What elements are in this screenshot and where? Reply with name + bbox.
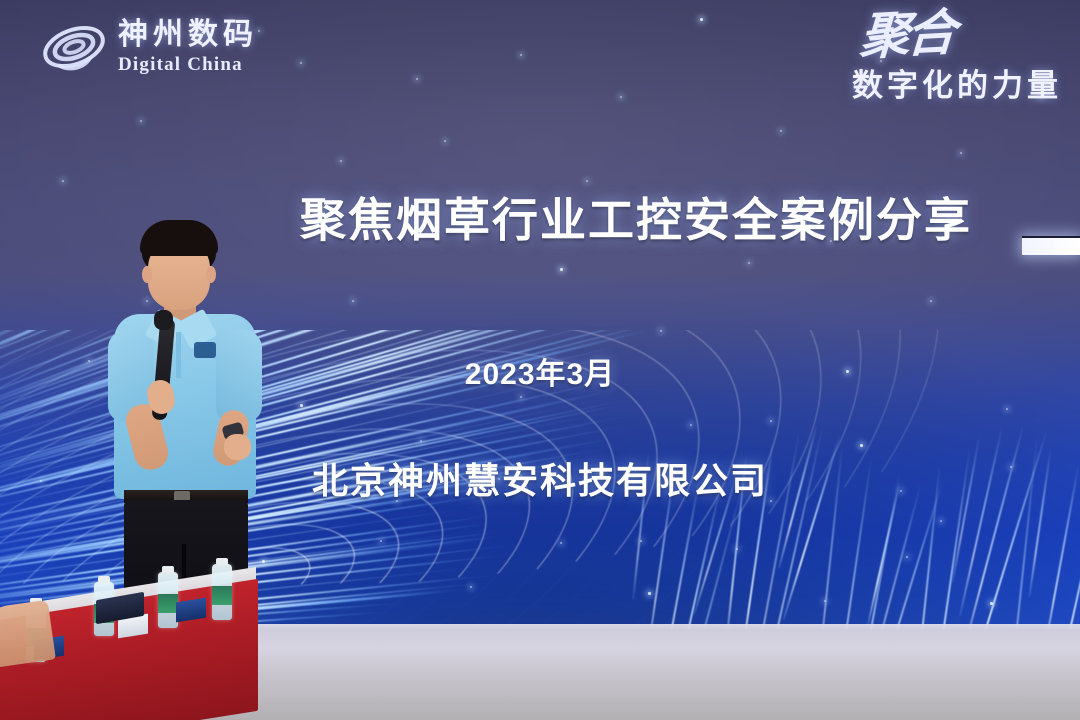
brand-logo: 神州数码 Digital China — [40, 14, 258, 80]
audience-member — [0, 600, 56, 669]
bottle-label — [158, 594, 178, 613]
speaker-hand-holding-clicker — [224, 434, 251, 460]
speaker-figure — [96, 222, 274, 612]
brand-name-cn: 神州数码 — [118, 20, 258, 50]
slide-title: 聚焦烟草行业工控安全案例分享 — [300, 184, 1012, 250]
stage-light-bar — [1022, 236, 1080, 255]
calligraphy-text: 聚合 — [851, 9, 954, 60]
speaker-right-sleeve — [216, 330, 262, 422]
event-calligraphy-mark: 聚合 数字化的力量 — [852, 12, 1062, 105]
conference-stage-photo: 神州数码 Digital China 聚合 数字化的力量 聚焦烟草行业工控安全案… — [0, 0, 1080, 720]
bottle-cap — [98, 576, 110, 583]
digital-china-spiral-icon — [40, 14, 108, 80]
microphone-head — [154, 310, 173, 330]
bottle-cap — [162, 566, 174, 573]
brand-text: 神州数码 Digital China — [118, 20, 258, 74]
bottle-label — [212, 586, 232, 605]
calligraphy-subtitle: 数字化的力量 — [852, 60, 1062, 105]
company-badge-icon — [194, 342, 216, 358]
speaker-ear-left — [142, 266, 152, 283]
speaker-ear-right — [206, 266, 216, 283]
brand-name-en: Digital China — [118, 55, 258, 74]
bottle-cap — [216, 558, 228, 565]
speaker-placket — [176, 332, 181, 378]
speaker-hair-top — [140, 220, 218, 256]
